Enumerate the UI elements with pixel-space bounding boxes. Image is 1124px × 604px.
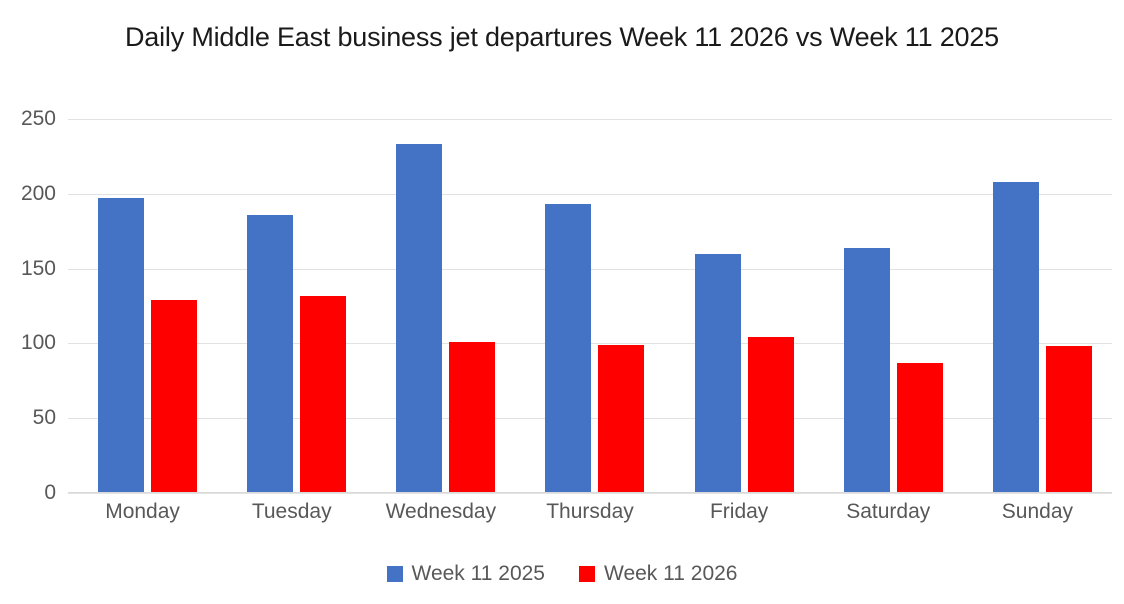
bar[interactable] — [545, 204, 591, 493]
bar[interactable] — [247, 215, 293, 493]
y-axis-labels: 050100150200250 — [0, 119, 56, 493]
legend-item[interactable]: Week 11 2026 — [579, 562, 738, 586]
gridline — [68, 493, 1112, 494]
x-axis-tick-label: Sunday — [963, 500, 1112, 534]
x-axis-tick-label: Saturday — [814, 500, 963, 534]
y-axis-tick-label: 0 — [0, 481, 56, 505]
x-axis-tick-label: Wednesday — [366, 500, 515, 534]
bar[interactable] — [449, 342, 495, 493]
legend-swatch-icon — [387, 566, 403, 582]
bar[interactable] — [748, 337, 794, 493]
bar-group — [963, 119, 1112, 493]
legend-label: Week 11 2026 — [604, 562, 738, 586]
legend-swatch-icon — [579, 566, 595, 582]
plot-area — [68, 119, 1112, 493]
bar-group — [814, 119, 963, 493]
x-axis-tick-label: Thursday — [515, 500, 664, 534]
bar[interactable] — [300, 296, 346, 493]
x-axis-tick-label: Friday — [665, 500, 814, 534]
bar[interactable] — [993, 182, 1039, 493]
bar-groups — [68, 119, 1112, 493]
y-axis-tick-label: 200 — [0, 182, 56, 206]
bar-group — [515, 119, 664, 493]
legend-label: Week 11 2025 — [412, 562, 546, 586]
bar[interactable] — [1046, 346, 1092, 493]
y-axis-tick-label: 100 — [0, 331, 56, 355]
bar[interactable] — [396, 144, 442, 493]
bar[interactable] — [695, 254, 741, 493]
bar[interactable] — [598, 345, 644, 493]
x-axis-tick-label: Monday — [68, 500, 217, 534]
bar[interactable] — [897, 363, 943, 493]
bar-group — [366, 119, 515, 493]
x-axis-tick-label: Tuesday — [217, 500, 366, 534]
y-axis-tick-label: 50 — [0, 406, 56, 430]
bar[interactable] — [98, 198, 144, 493]
y-axis-tick-label: 250 — [0, 107, 56, 131]
legend-item[interactable]: Week 11 2025 — [387, 562, 546, 586]
y-axis-tick-label: 150 — [0, 257, 56, 281]
bar-group — [68, 119, 217, 493]
bar-group — [665, 119, 814, 493]
chart-legend: Week 11 2025Week 11 2026 — [0, 562, 1124, 586]
bar-chart: Daily Middle East business jet departure… — [0, 0, 1124, 604]
x-axis-line — [68, 492, 1112, 493]
bar[interactable] — [151, 300, 197, 493]
x-axis-labels: MondayTuesdayWednesdayThursdayFridaySatu… — [68, 500, 1112, 534]
chart-title: Daily Middle East business jet departure… — [0, 22, 1124, 53]
bar[interactable] — [844, 248, 890, 493]
bar-group — [217, 119, 366, 493]
